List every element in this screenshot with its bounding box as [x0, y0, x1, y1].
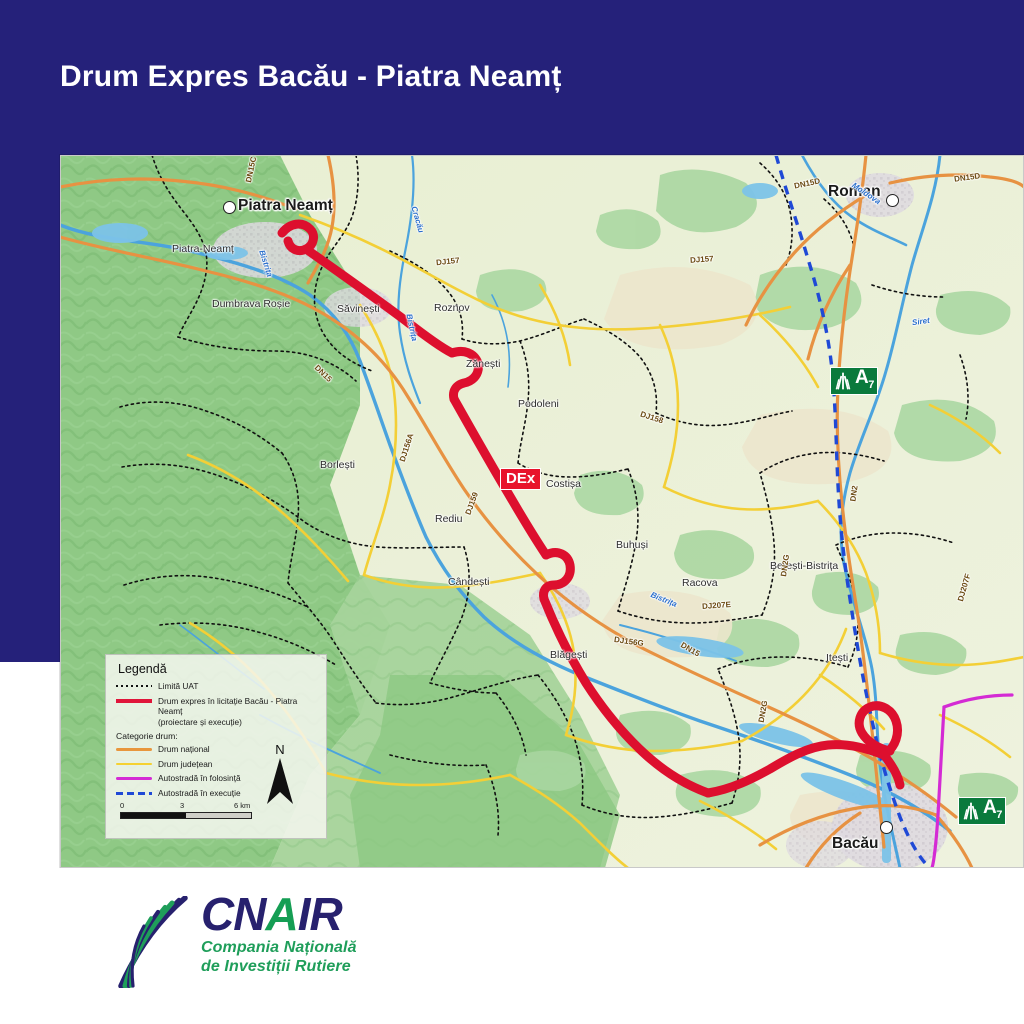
scale-tick-labels: 0 3 6 km — [120, 801, 252, 812]
scale-label-max: 6 km — [234, 801, 250, 810]
yellow-line-key-icon — [116, 759, 152, 770]
dotted-line-key-icon — [116, 681, 152, 692]
legend-label-county: Drum județean — [158, 759, 212, 770]
scale-label-mid: 3 — [180, 801, 184, 810]
scale-bar-graphic — [120, 812, 252, 819]
scale-label-min: 0 — [120, 801, 124, 810]
north-arrow-icon — [267, 758, 293, 804]
orange-line-key-icon — [116, 744, 152, 755]
legend-label-uat: Limită UAT — [158, 681, 198, 692]
page-title: Drum Expres Bacău - Piatra Neamț — [60, 60, 562, 94]
dex-route-badge: DEx — [500, 468, 541, 490]
cnair-logo-text: CNAIR Compania Națională de Investiții R… — [201, 890, 357, 976]
city-marker-bacau[interactable] — [880, 821, 893, 834]
legend-label-express: Drum expres în licitație Bacău - Piatra … — [158, 696, 318, 728]
scale-segment-light — [186, 813, 251, 818]
map-viewport[interactable]: Piatra Neamț Roman Bacău Piatra-Neamț Du… — [60, 155, 1024, 868]
magenta-line-key-icon — [116, 773, 152, 784]
north-label: N — [258, 743, 302, 756]
legend-label-express-line2: (proiectare și execuție) — [158, 717, 242, 727]
legend-title: Legendă — [118, 662, 318, 676]
city-marker-roman[interactable] — [886, 194, 899, 207]
cnair-tagline-line2: de Investiții Rutiere — [201, 957, 357, 976]
map-legend: Legendă Limită UAT Drum expres în licita… — [105, 654, 327, 839]
motorway-shield-a7-north: A7 — [830, 367, 878, 395]
legend-label-national: Drum național — [158, 744, 210, 755]
cnair-wordmark-a: A — [265, 888, 297, 940]
cnair-wordmark-ir: IR — [298, 888, 342, 940]
legend-label-motorway-construction: Autostradă în execuție — [158, 788, 241, 799]
motorway-shield-a7-north-label: A7 — [855, 368, 874, 395]
cnair-wordmark: CNAIR — [201, 890, 357, 938]
cnair-logo[interactable]: CNAIR Compania Națională de Investiții R… — [115, 890, 535, 1000]
cnair-swoosh-icon — [115, 896, 193, 988]
legend-section-title: Categorie drum: — [116, 731, 318, 741]
map-scale-bar: 0 3 6 km — [120, 801, 252, 819]
motorway-shield-a7-south-label: A7 — [983, 798, 1002, 825]
cnair-tagline-line1: Compania Națională — [201, 938, 357, 957]
legend-row-express-road: Drum expres în licitație Bacău - Piatra … — [116, 696, 318, 728]
motorway-shield-a7-south: A7 — [958, 797, 1006, 825]
legend-row-uat-boundary: Limită UAT — [116, 681, 318, 692]
red-line-key-icon — [116, 696, 152, 707]
legend-label-express-line1: Drum expres în licitație Bacău - Piatra … — [158, 696, 297, 717]
city-marker-piatra-neamt[interactable] — [223, 201, 236, 214]
cnair-wordmark-cn: CN — [201, 888, 265, 940]
motorway-icon — [961, 801, 981, 821]
north-arrow-indicator: N — [258, 743, 302, 815]
blue-dashed-line-key-icon — [116, 788, 152, 799]
footer-bar: CNAIR Compania Națională de Investiții R… — [0, 868, 1024, 1024]
scale-segment-dark — [121, 813, 186, 818]
legend-label-motorway-in-use: Autostradă în folosință — [158, 773, 241, 784]
motorway-icon — [833, 371, 853, 391]
